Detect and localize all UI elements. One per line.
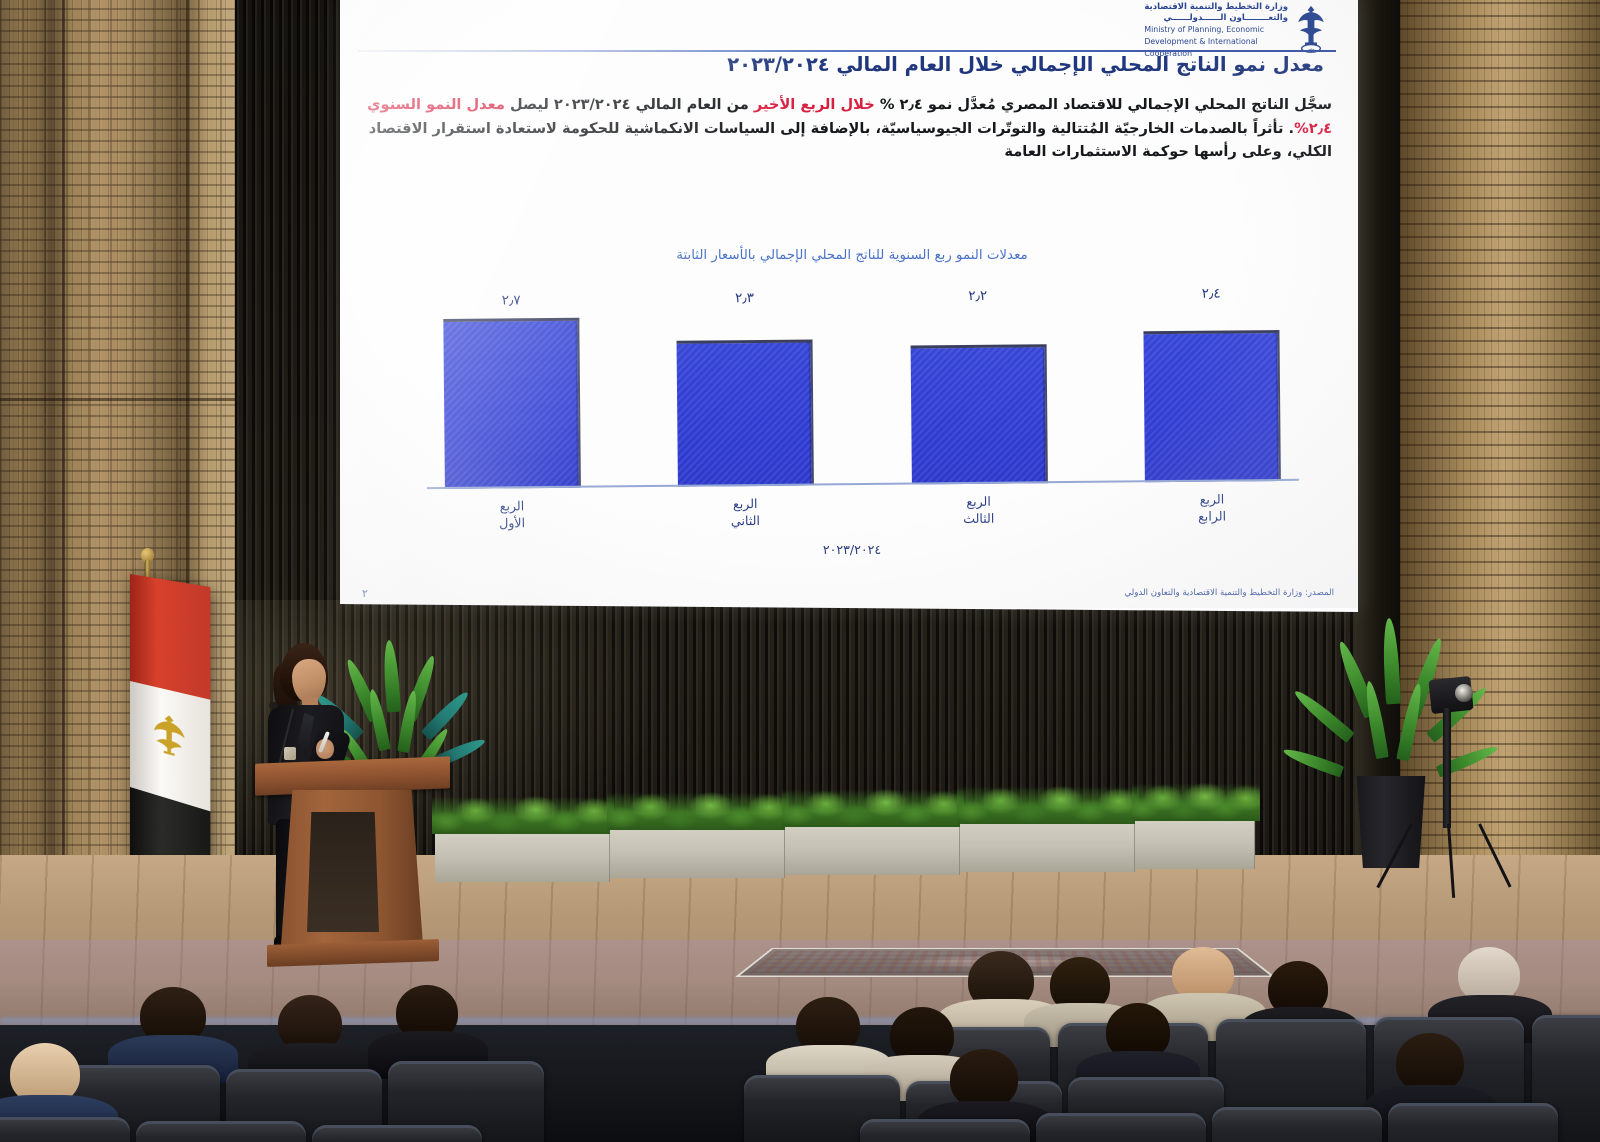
bar-group-q3: ٢٫٢ (910, 313, 1048, 484)
planter-box-far (1135, 813, 1255, 869)
camera-lens-icon (1455, 684, 1473, 702)
planter-box-right (960, 816, 1135, 872)
audience-seat (1036, 1113, 1206, 1142)
category-label-q3: الربع الثالث (911, 492, 1047, 527)
bar-value-q1: ٢٫٧ (502, 292, 521, 308)
body-segment-5: . تأثراً بالصدمات الخارجيّة المُتتالية و… (369, 120, 1332, 161)
category-label-q1: الربع الأول (444, 497, 580, 532)
hedge-mid1 (607, 788, 789, 830)
chart-title: معدلات النمو ربع السنوية للناتج المحلي ا… (364, 248, 1340, 263)
planter-box-mid2 (785, 819, 960, 875)
gdp-growth-bar-chart: معدلات النمو ربع السنوية للناتج المحلي ا… (364, 248, 1340, 578)
audience (0, 955, 1600, 1142)
projection-screen: مصر وزارة التخطيط والتنمية الاقتصادية وا… (340, 0, 1358, 612)
tripod-column (1443, 708, 1451, 828)
presenter-badge (284, 747, 296, 760)
chart-plot-area: ٢٫٧ ٢٫٣ ٢٫٢ ٢٫٤ (443, 289, 1281, 489)
slide-source-note: المصدر: وزارة التخطيط والتنمية الاقتصادي… (1125, 588, 1334, 598)
category-label-q2: الربع الثاني (677, 494, 813, 529)
plant-pot (1352, 776, 1430, 868)
bar-group-q4: ٢٫٤ (1143, 311, 1281, 482)
bar-value-q2: ٢٫٣ (735, 290, 754, 306)
audience-head (1396, 1033, 1464, 1093)
category-q2-line2: الثاني (677, 511, 813, 529)
bar-group-q1: ٢٫٧ (443, 318, 581, 489)
conference-hall-scene: مصر وزارة التخطيط والتنمية الاقتصادية وا… (0, 0, 1600, 1142)
bar-q2 (677, 339, 814, 486)
audience-seat (1388, 1103, 1558, 1142)
hedge-left (432, 792, 614, 834)
logo-arabic-line2: والتعــــــــاون الــــــدولــــــي (1144, 13, 1288, 24)
hedge-mid2 (782, 785, 964, 827)
podium-top (255, 756, 450, 795)
podium-front-panel (307, 812, 379, 932)
audience-seat (136, 1121, 306, 1142)
category-q3-line1: الربع (911, 492, 1047, 510)
category-q1-line1: الربع (444, 497, 580, 515)
podium (255, 760, 450, 975)
logo-arabic-line1: وزارة التخطيط والتنمية الاقتصادية (1144, 2, 1288, 13)
slide-number: ٢ (362, 587, 368, 600)
body-highlight-quarter: خلال الربع الأخير (754, 96, 875, 113)
audience-seat (312, 1125, 482, 1142)
flag-stripe-red (130, 574, 210, 699)
audience-seat (0, 1117, 130, 1142)
body-segment-3: من العام المالي ٢٠٢٣/٢٠٢٤ ليصل (505, 96, 754, 113)
planter-box-left (435, 826, 610, 882)
bar-value-q3: ٢٫٢ (968, 288, 987, 304)
body-segment-1: سجَّل الناتج المحلي الإجمالي للاقتصاد ال… (875, 96, 1332, 113)
logo-english-line1: Ministry of Planning, Economic (1144, 25, 1288, 35)
bar-value-q4: ٢٫٤ (1202, 286, 1221, 302)
hedge-right (957, 782, 1139, 824)
bar-q1 (443, 318, 581, 489)
bar-q3 (910, 344, 1047, 485)
audience-seat (860, 1119, 1030, 1142)
logo-english-line2: Development & International (1144, 37, 1288, 47)
chart-category-labels: الربع الأول الربع الثاني الربع الثالث ال… (444, 490, 1280, 532)
category-q4-line2: الرابع (1144, 507, 1280, 525)
bar-group-q2: ٢٫٣ (677, 315, 815, 486)
microphone-head (269, 702, 278, 709)
category-label-q4: الربع الرابع (1144, 490, 1280, 525)
corner-potted-plant (1330, 618, 1460, 868)
chart-x-axis-label: ٢٠٢٣/٢٠٢٤ (364, 542, 1340, 557)
egypt-eagle-emblem-icon: مصر (1294, 2, 1328, 54)
slide-content: مصر وزارة التخطيط والتنمية الاقتصادية وا… (340, 0, 1358, 608)
hedge-far (1132, 779, 1260, 821)
category-q4-line1: الربع (1144, 490, 1280, 508)
header-divider (358, 50, 1336, 52)
slide-header: مصر وزارة التخطيط والتنمية الاقتصادية وا… (340, 0, 1358, 58)
chart-bars: ٢٫٧ ٢٫٣ ٢٫٢ ٢٫٤ (443, 311, 1281, 489)
audience-seat (1212, 1107, 1382, 1142)
bar-q4 (1143, 330, 1280, 483)
category-q2-line1: الربع (677, 494, 813, 512)
slide-body-text: سجَّل الناتج المحلي الإجمالي للاقتصاد ال… (364, 93, 1332, 164)
category-q1-line2: الأول (444, 514, 580, 532)
category-q3-line2: الثالث (911, 509, 1047, 527)
slide-title: معدل نمو الناتج المحلي الإجمالي خلال الع… (460, 53, 1324, 76)
audience-head (950, 1049, 1018, 1109)
planter-box-mid1 (610, 822, 785, 878)
